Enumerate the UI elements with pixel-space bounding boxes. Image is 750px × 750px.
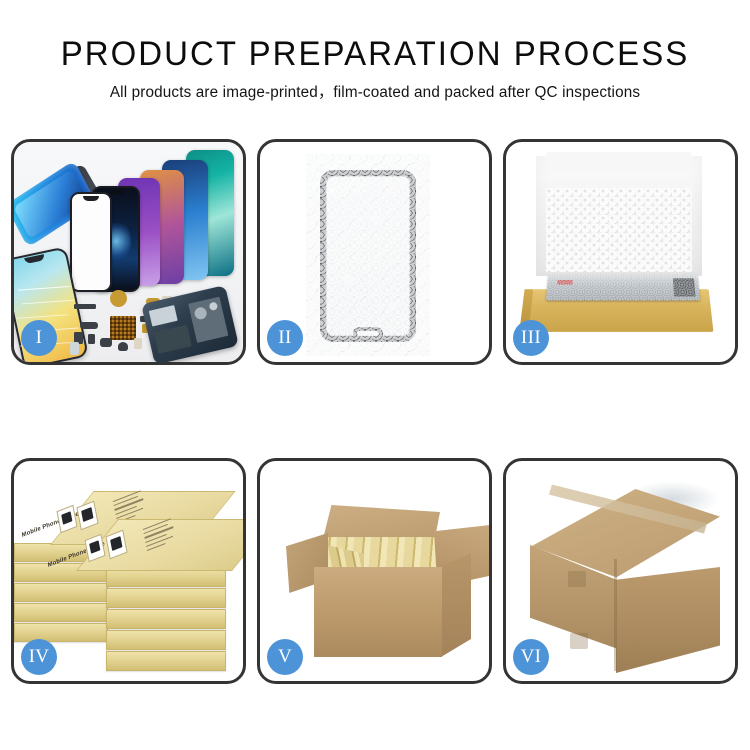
step-badge-6: VI <box>513 639 549 675</box>
carton-front-panel <box>314 567 442 657</box>
foam-insert <box>546 188 692 272</box>
process-step-card-2: II <box>257 139 492 365</box>
sealed-shipping-carton <box>528 483 720 667</box>
page-header: PRODUCT PREPARATION PROCESS All products… <box>0 0 750 103</box>
screen-glass-lens <box>320 170 416 342</box>
phone-fan-group <box>66 148 243 288</box>
process-step-card-4: Mobile Phone Spare Parts Mobile Phone Sp… <box>11 458 246 684</box>
step-badge-3: III <box>513 320 549 356</box>
process-step-card-6: VI <box>503 458 738 684</box>
open-shipping-carton <box>288 497 464 663</box>
step-badge-4: IV <box>21 639 57 675</box>
step-badge-5: V <box>267 639 303 675</box>
kraft-inner-box <box>529 289 714 332</box>
carton-handle-notch-bottom <box>570 633 588 649</box>
carton-side-panel <box>441 553 471 657</box>
process-step-grid: I II III <box>11 139 739 685</box>
process-step-card-1: I <box>11 139 246 365</box>
step-badge-2: II <box>267 320 303 356</box>
carton-handle-notch-top <box>568 571 586 587</box>
step-badge-1: I <box>21 320 57 356</box>
process-step-card-3: III <box>503 139 738 365</box>
phone-white-icon <box>70 192 112 292</box>
process-step-card-5: V <box>257 458 492 684</box>
carton-right-panel <box>616 567 720 673</box>
carton-vertical-seam <box>614 559 617 671</box>
page-subtitle: All products are image-printed，film-coat… <box>6 74 745 103</box>
page-title: PRODUCT PREPARATION PROCESS <box>11 0 739 74</box>
wrapped-product <box>546 275 700 301</box>
bubble-wrap-sheet <box>306 154 430 356</box>
